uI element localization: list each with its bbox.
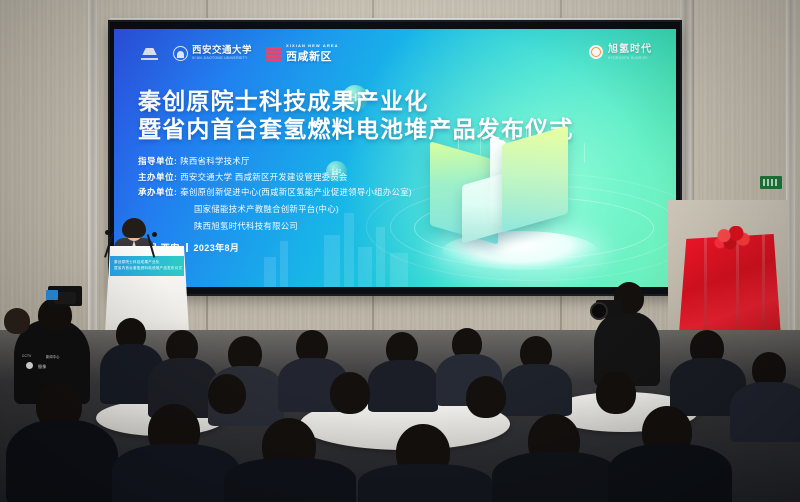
photographer-right — [578, 276, 674, 386]
led-screen-frame: H2 H2 H2 西安交通大学 XI'AN JIAOTONG UNIVERSIT… — [110, 22, 680, 294]
detail-continued-line: 国家储能技术产教融合创新平台(中心) — [194, 203, 412, 215]
audience-shoulders — [492, 452, 620, 502]
detail-row: 承办单位: 秦创原创新促进中心(西咸新区氢能产业促进领导小组办公室) — [138, 186, 412, 198]
detail-value: 秦创原创新促进中心(西咸新区氢能产业促进领导小组办公室) — [180, 186, 412, 198]
audience-shoulders — [730, 382, 800, 442]
detail-row: 指导单位: 陕西省科学技术厅 — [138, 155, 412, 167]
led-screen: H2 H2 H2 西安交通大学 XI'AN JIAOTONG UNIVERSIT… — [114, 29, 676, 287]
vest-text: 新闻中心 — [46, 354, 60, 359]
detail-value: 陕西省科学技术厅 — [180, 155, 249, 167]
xjtu-seal-icon — [173, 46, 188, 61]
sponsor-ring-icon — [589, 45, 603, 59]
microphone-head — [152, 232, 157, 237]
sponsor-logo: 旭氢时代 HYDROGEN SUNRISE — [589, 45, 652, 60]
vest-text: 摄像 — [38, 364, 46, 370]
detail-row: 主办单位: 西安交通大学 西咸新区开发建设管理委员会 — [138, 171, 412, 183]
audience-shoulders — [6, 420, 118, 502]
detail-continued-line: 陕西旭氢时代科技有限公司 — [194, 220, 412, 232]
vest-badge — [26, 362, 33, 369]
audience-shoulders — [358, 464, 492, 502]
audience-head — [208, 374, 246, 414]
xixian-mark-icon — [266, 47, 282, 61]
footer-separator — [186, 243, 188, 252]
audience-shoulders — [608, 444, 732, 502]
detail-value: 西安交通大学 西咸新区开发建设管理委员会 — [180, 171, 347, 183]
xjtu-logo-cn: 西安交通大学 — [192, 46, 252, 56]
red-flower-ball — [712, 226, 752, 250]
screen-organizer-details: 指导单位: 陕西省科学技术厅 主办单位: 西安交通大学 西咸新区开发建设管理委员… — [138, 155, 412, 232]
screen-title-line1: 秦创原院士科技成果产业化 — [138, 87, 574, 115]
podium-title-line2: 暨省内首台套氢燃料电池堆产品发布仪式 — [114, 266, 184, 272]
exit-sign — [760, 176, 782, 189]
audience-shoulders — [502, 364, 572, 416]
xixian-logo-cn: 西咸新区 — [286, 48, 332, 64]
sponsor-logo-en: HYDROGEN SUNRISE — [608, 57, 652, 60]
audience-shoulders — [368, 360, 438, 412]
podium-title-band: 秦创原院士科技成果产业化 暨省内首台套氢燃料电池堆产品发布仪式 — [110, 256, 184, 276]
audience-head — [466, 376, 506, 418]
footer-date: 2023年8月 — [194, 241, 240, 254]
microphone-head — [105, 230, 110, 235]
audience-shoulders — [224, 458, 356, 502]
audience-head — [330, 372, 370, 414]
xjtu-logo-en: XI'AN JIAOTONG UNIVERSITY — [192, 57, 252, 60]
scene-photo: H2 H2 H2 西安交通大学 XI'AN JIAOTONG UNIVERSIT… — [0, 0, 800, 502]
fuel-cell-stack-graphic — [406, 125, 636, 275]
screen-logo-strip: 西安交通大学 XI'AN JIAOTONG UNIVERSITY XIXIAN … — [140, 43, 339, 64]
audience-head — [596, 372, 636, 414]
stack-plate — [502, 126, 568, 233]
audience-shoulders — [112, 444, 240, 502]
sponsor-logo-cn: 旭氢时代 — [608, 45, 652, 55]
detail-label: 承办单位: — [138, 186, 177, 198]
shaanxi-gov-emblem-icon — [140, 46, 159, 61]
detail-label: 指导单位: — [138, 155, 177, 167]
detail-label: 主办单位: — [138, 171, 177, 183]
vest-text: CCTV — [22, 354, 31, 358]
